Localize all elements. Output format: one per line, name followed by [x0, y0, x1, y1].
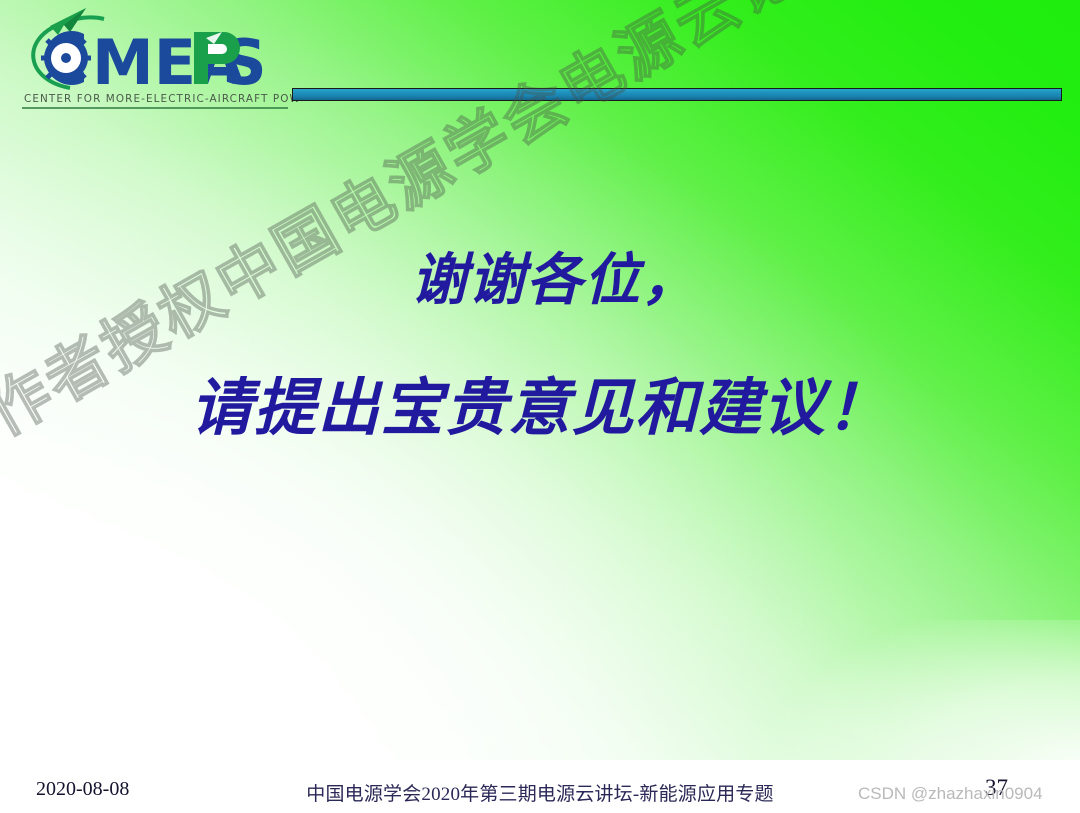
- slide-canvas: MEA S CENTER FOR MORE-ELECTRIC-AIRCRAFT …: [0, 0, 1080, 813]
- csdn-watermark: CSDN @zhazhaxin0904: [858, 784, 1043, 804]
- thank-you-line: 谢谢各位，: [0, 240, 1080, 321]
- cmeaps-logo: MEA S CENTER FOR MORE-ELECTRIC-AIRCRAFT …: [8, 2, 300, 112]
- main-message: 谢谢各位， 请提出宝贵意见和建议！: [0, 240, 1080, 453]
- logo-tagline: CENTER FOR MORE-ELECTRIC-AIRCRAFT POWER …: [24, 93, 300, 105]
- feedback-request-line: 请提出宝贵意见和建议！: [0, 363, 1080, 453]
- slide-background-corner-fade: [740, 620, 1080, 770]
- header-divider-bar: [292, 88, 1062, 101]
